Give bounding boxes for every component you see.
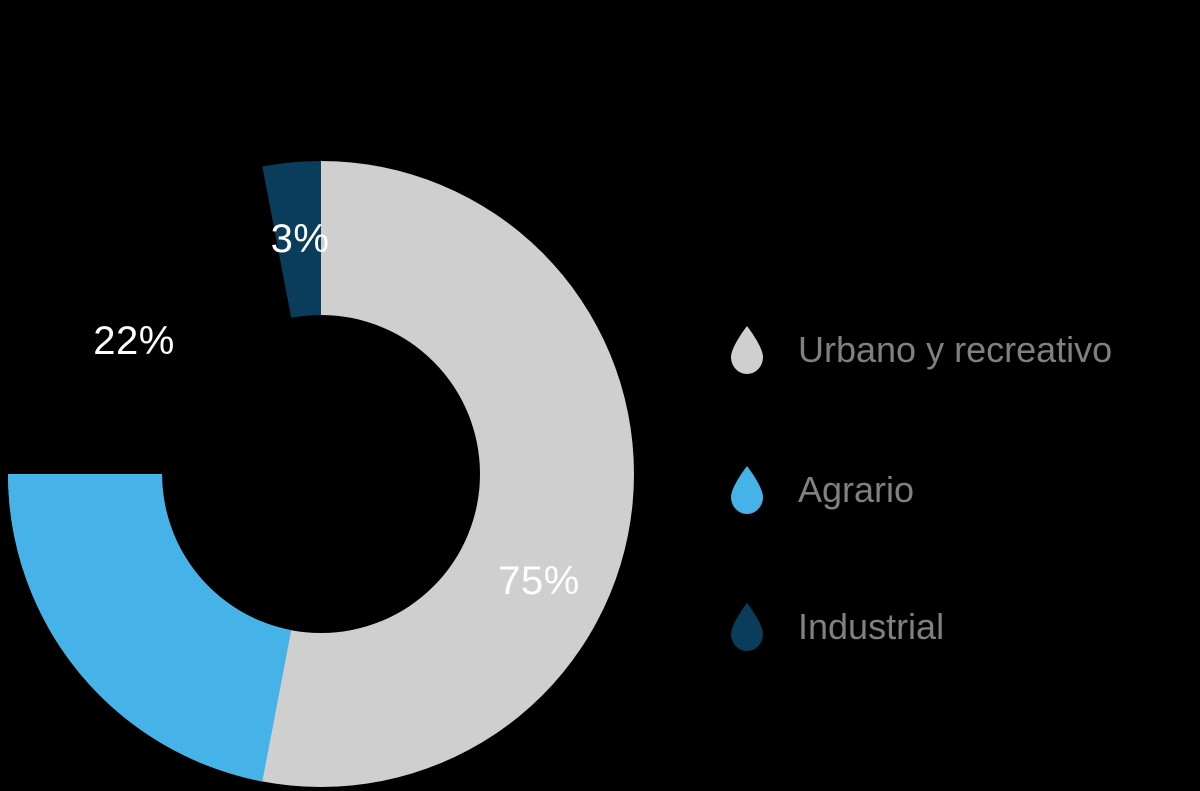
legend-item-urbano-y-recreativo[interactable]: Urbano y recreativo [729,314,1112,386]
legend-label-industrial: Industrial [798,609,944,645]
slice-value-label-agrario: 22% [93,321,175,361]
chart-canvas: 3% 22% 75% Urbano y recreativo Agrario [0,0,1200,791]
water-drop-icon [729,466,765,514]
legend-item-agrario[interactable]: Agrario [729,454,914,526]
slice-value-label-urbano-y-recreativo: 75% [498,561,580,601]
slice-value-label-industrial: 3% [271,219,330,259]
water-drop-icon [729,603,765,651]
legend-item-industrial[interactable]: Industrial [729,591,944,663]
water-drop-icon [729,326,765,374]
donut-chart: 3% 22% 75% [0,0,700,791]
donut-chart-svg [0,0,700,791]
donut-slice-agrario[interactable] [8,474,291,781]
legend-label-agrario: Agrario [798,472,914,508]
legend-label-urbano-y-recreativo: Urbano y recreativo [798,332,1112,368]
